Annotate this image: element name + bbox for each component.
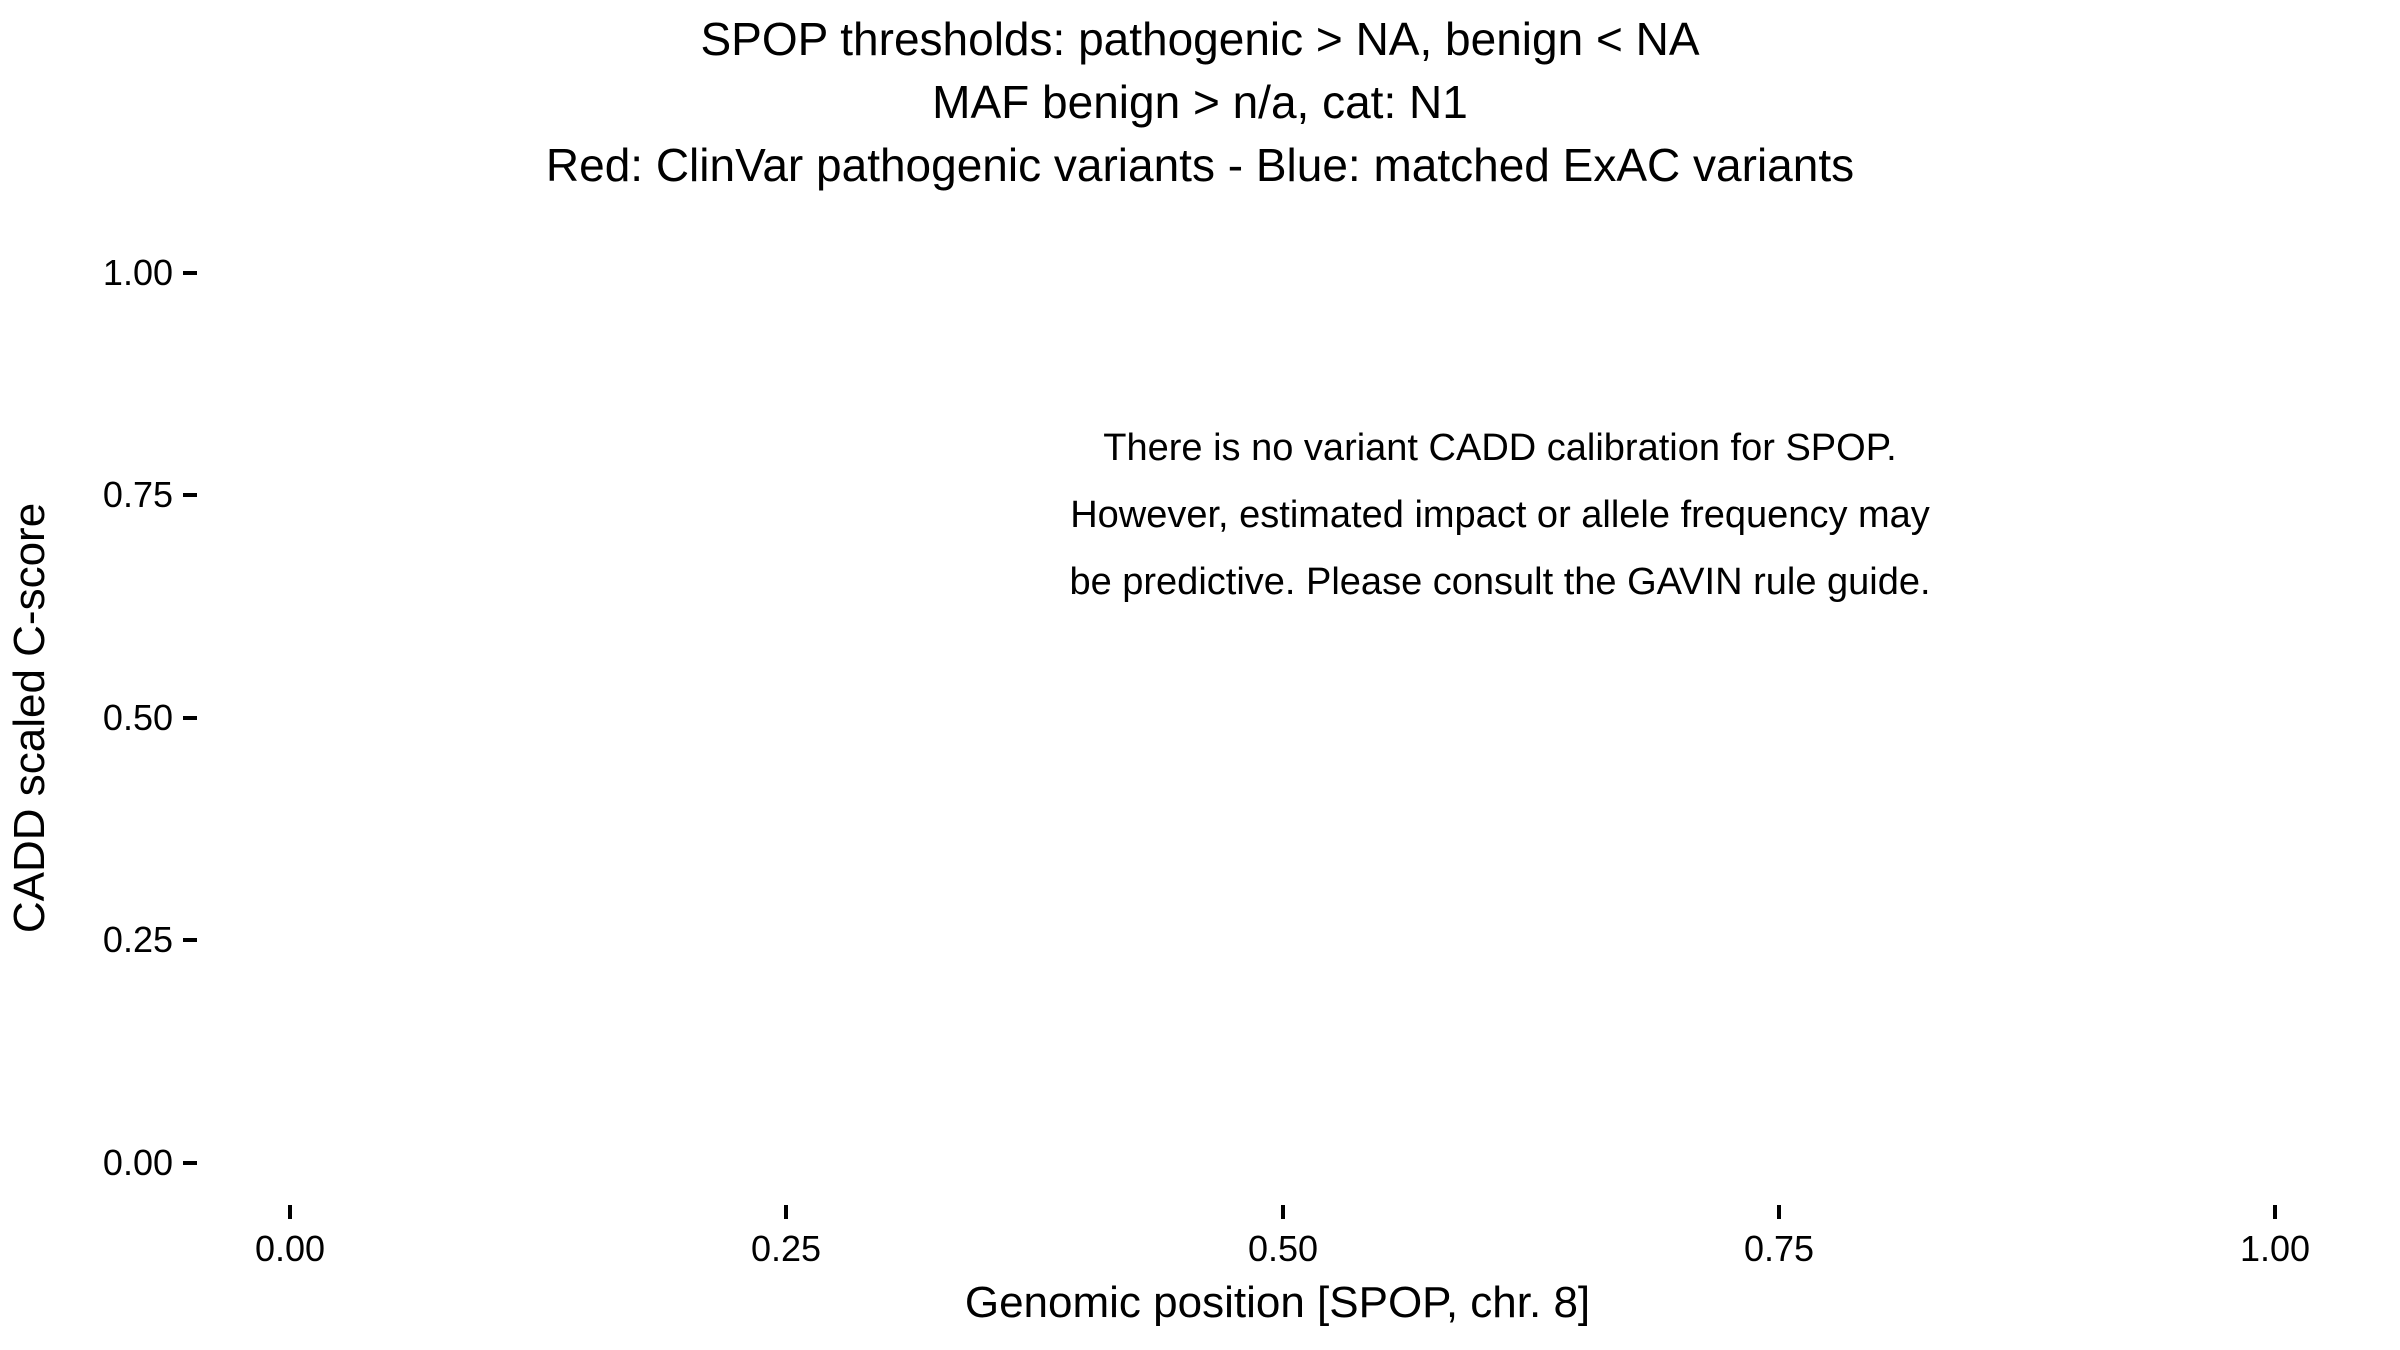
plot-canvas: SPOP thresholds: pathogenic > NA, benign… [0,0,2400,1350]
x-tick-label: 0.50 [1248,1231,1318,1267]
x-tick-label: 0.00 [255,1231,325,1267]
x-axis-title: Genomic position [SPOP, chr. 8] [205,1278,2350,1328]
annotation-line-1: There is no variant CADD calibration for… [800,415,2200,482]
y-tick-label: 0.75 [103,477,183,513]
x-tick-label: 0.75 [1744,1231,1814,1267]
x-tick-mark-icon [1281,1205,1285,1219]
x-tick-mark-icon [1777,1205,1781,1219]
y-tick-mark-icon [183,938,197,942]
x-tick-mark-icon [784,1205,788,1219]
plot-title: SPOP thresholds: pathogenic > NA, benign… [0,8,2400,197]
plot-title-line-1: SPOP thresholds: pathogenic > NA, benign… [0,8,2400,71]
y-tick-mark-icon [183,716,197,720]
y-tick-label: 0.00 [103,1145,183,1181]
y-tick-mark-icon [183,271,197,275]
panel-annotation-text: There is no variant CADD calibration for… [800,415,2200,616]
plot-panel: There is no variant CADD calibration for… [205,273,2350,1163]
y-tick-label: 0.25 [103,922,183,958]
y-tick-mark-icon [183,493,197,497]
x-tick-label: 1.00 [2240,1231,2310,1267]
x-axis-title-label: Genomic position [SPOP, chr. 8] [965,1278,1590,1327]
annotation-line-2: However, estimated impact or allele freq… [800,482,2200,549]
x-tick-mark-icon [2273,1205,2277,1219]
annotation-line-3: be predictive. Please consult the GAVIN … [800,549,2200,616]
plot-title-line-3: Red: ClinVar pathogenic variants - Blue:… [0,134,2400,197]
y-axis-title: CADD scaled C-score [0,0,60,1350]
x-tick-label: 0.25 [751,1231,821,1267]
plot-title-line-2: MAF benign > n/a, cat: N1 [0,71,2400,134]
y-tick-mark-icon [183,1161,197,1165]
y-tick-label: 1.00 [103,255,183,291]
y-axis-title-label: CADD scaled C-score [5,503,55,933]
x-tick-mark-icon [288,1205,292,1219]
y-tick-label: 0.50 [103,700,183,736]
